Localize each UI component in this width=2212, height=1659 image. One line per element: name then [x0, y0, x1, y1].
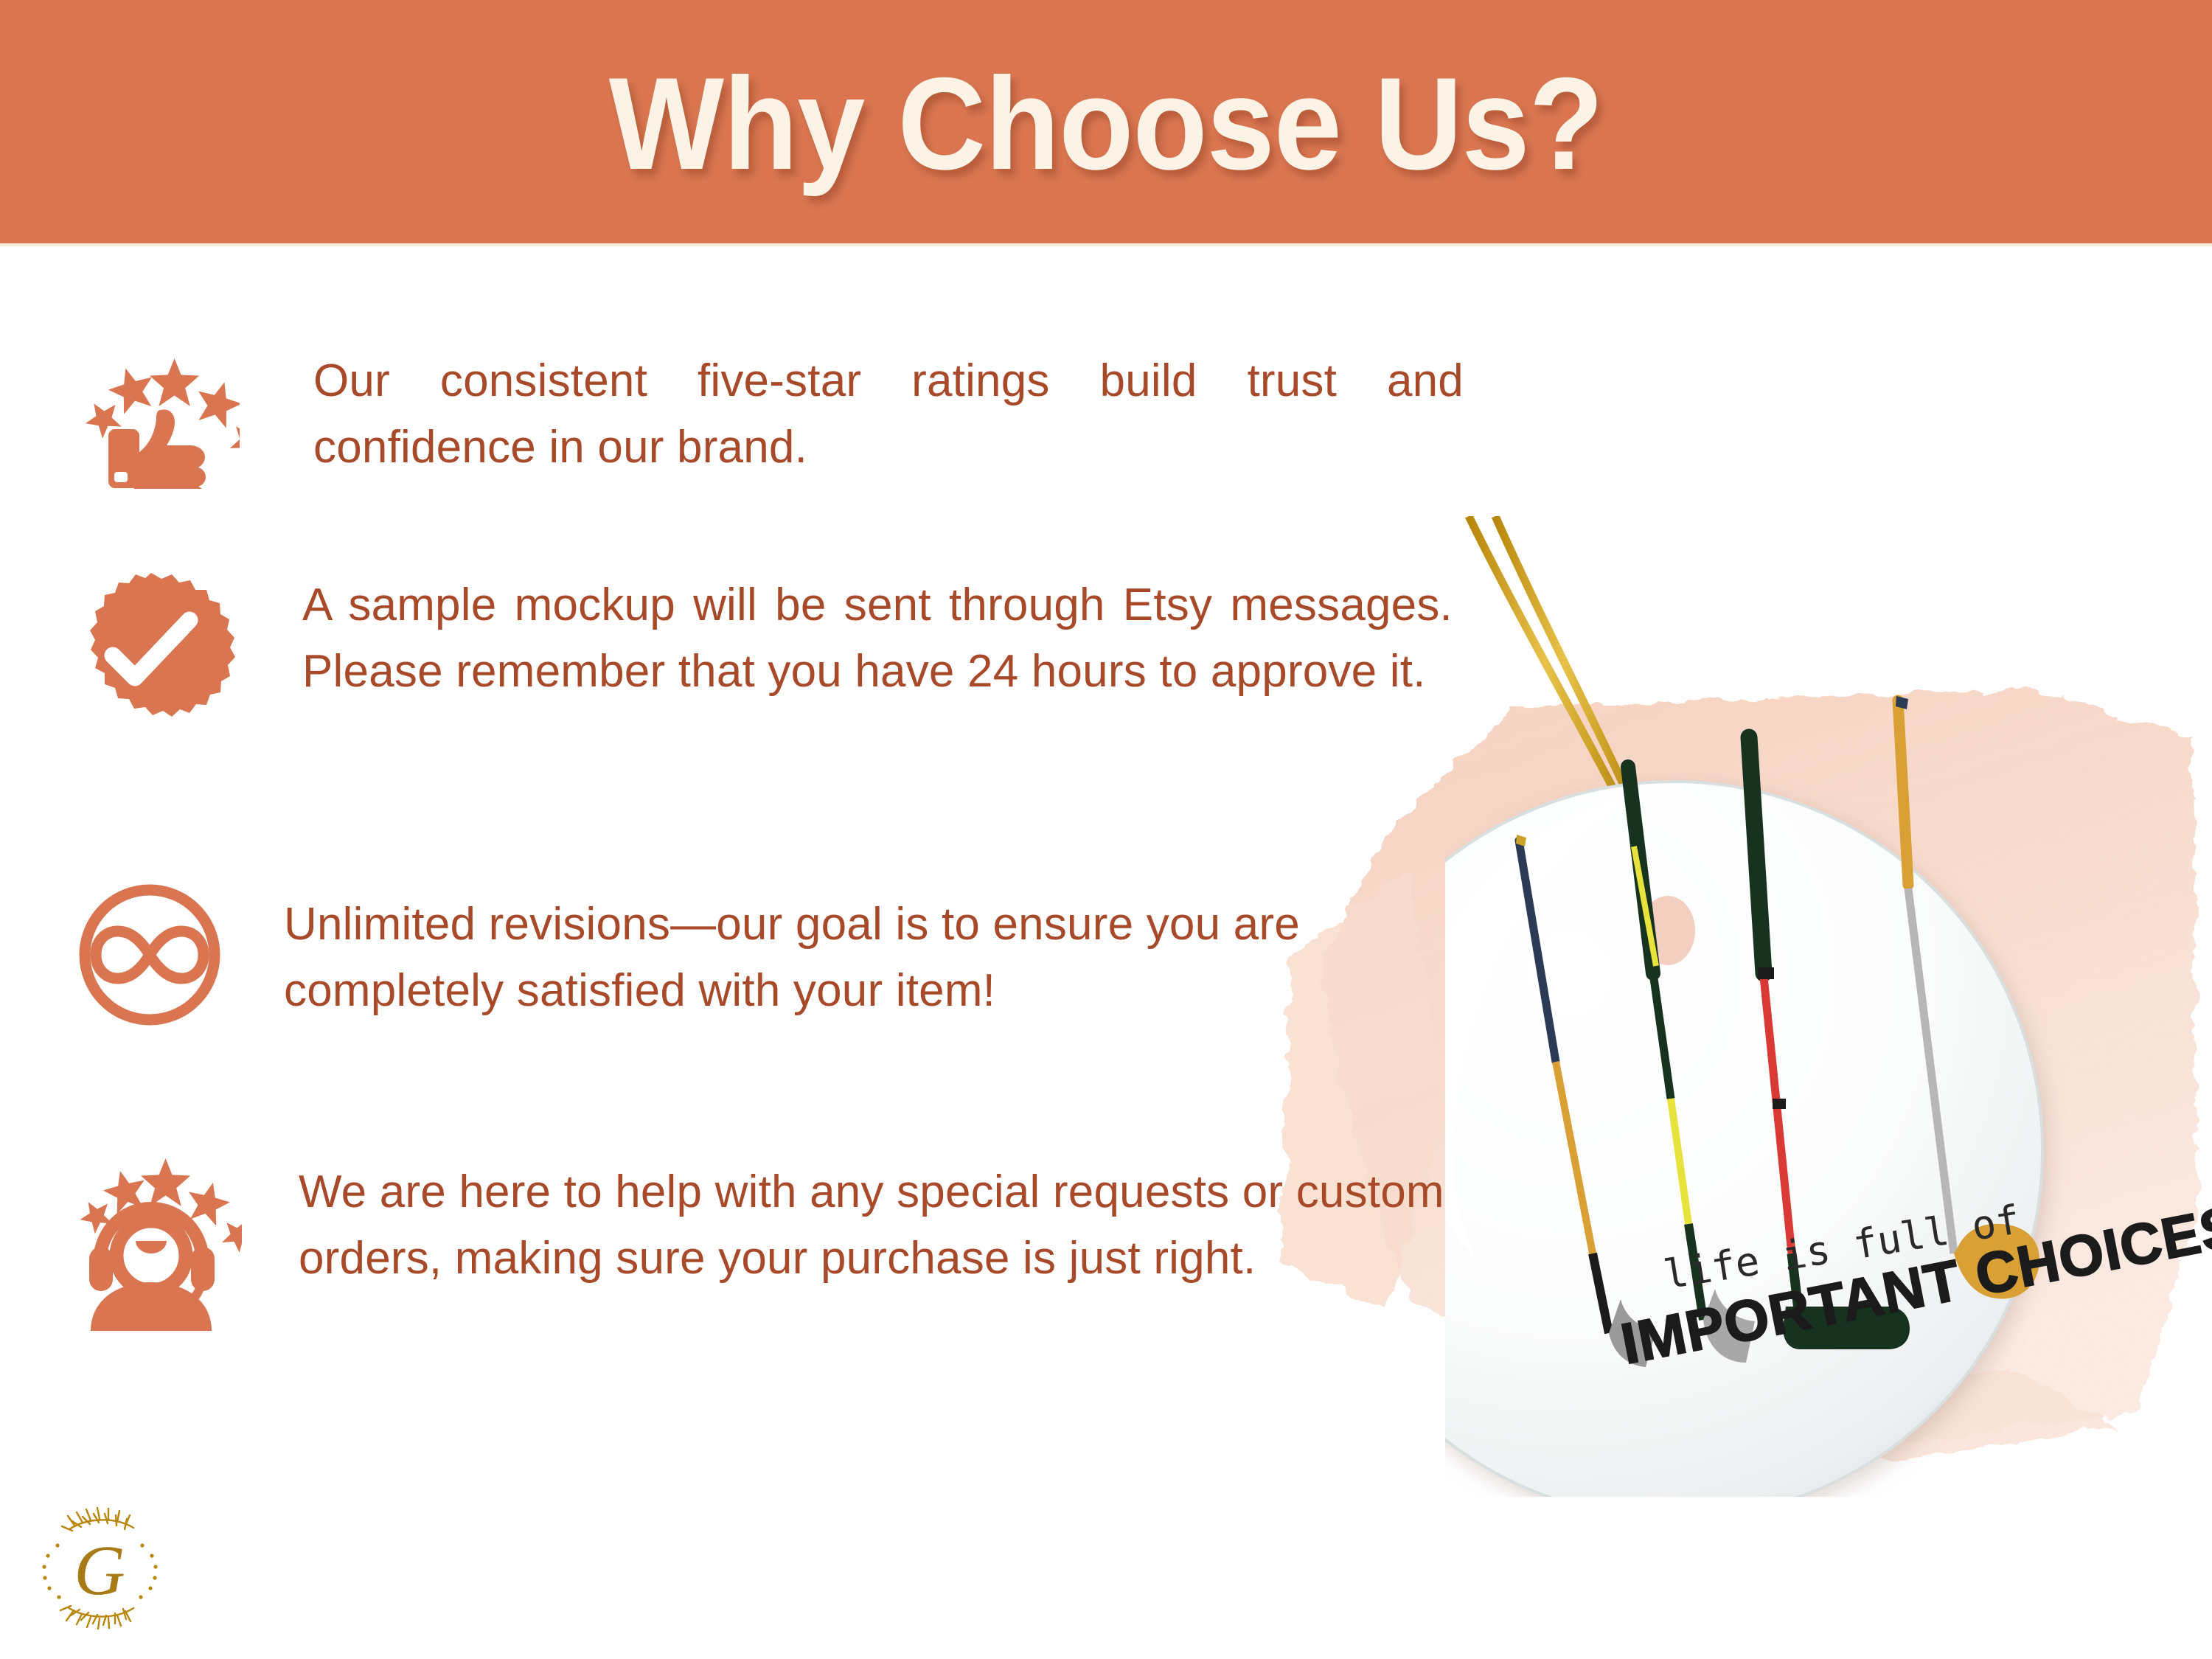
- feature-item-mockup: A sample mockup will be sent through Ets…: [59, 568, 1453, 737]
- brand-logo: G: [35, 1504, 164, 1633]
- feature-text-mockup: A sample mockup will be sent through Ets…: [302, 572, 1453, 705]
- feature-text-revisions: Unlimited revisions—our goal is to ensur…: [284, 891, 1449, 1024]
- header-underline: [0, 243, 2212, 246]
- feature-item-ratings: Our consistent five-star ratings build t…: [59, 324, 1464, 494]
- feature-text-support: We are here to help with any special req…: [299, 1159, 1449, 1292]
- customer-support-stars-icon: [59, 1158, 243, 1327]
- infinity-circle-icon: [59, 881, 243, 1029]
- page-title: Why Choose Us?: [609, 58, 1603, 189]
- verified-badge-check-icon: [59, 568, 243, 737]
- logo-monogram: G: [74, 1531, 125, 1610]
- five-star-thumbs-up-icon: [59, 324, 243, 494]
- feature-text-ratings: Our consistent five-star ratings build t…: [313, 348, 1464, 481]
- feature-item-support: We are here to help with any special req…: [59, 1158, 1449, 1327]
- page-header: Why Choose Us?: [0, 0, 2212, 243]
- product-image-golf-ornament: life is full of IMPORTANT CHOICES: [1445, 516, 2212, 1497]
- feature-item-revisions: Unlimited revisions—our goal is to ensur…: [59, 881, 1449, 1029]
